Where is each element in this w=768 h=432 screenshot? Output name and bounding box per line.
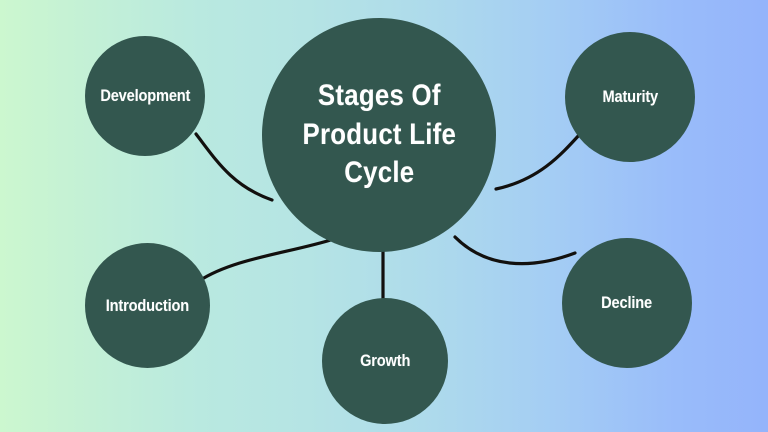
stage-node-growth-label: Growth	[360, 351, 410, 371]
stage-node-introduction[interactable]: Introduction	[85, 243, 210, 368]
stage-node-development-label: Development	[100, 86, 190, 106]
connector-center-maturity	[496, 134, 580, 189]
stage-node-introduction-label: Introduction	[106, 296, 189, 316]
connector-center-development	[196, 134, 272, 200]
stage-node-decline-label: Decline	[602, 293, 653, 313]
center-node-label: Stages Of Product Life Cycle	[302, 77, 456, 192]
connector-center-decline	[455, 237, 575, 264]
stage-node-maturity[interactable]: Maturity	[565, 32, 695, 162]
connector-center-introduction	[199, 239, 334, 281]
center-node[interactable]: Stages Of Product Life Cycle	[262, 18, 496, 252]
stage-node-decline[interactable]: Decline	[562, 238, 692, 368]
stage-node-growth[interactable]: Growth	[322, 298, 448, 424]
stage-node-maturity-label: Maturity	[602, 87, 657, 107]
stage-node-development[interactable]: Development	[85, 36, 205, 156]
diagram-canvas: Stages Of Product Life Cycle Development…	[0, 0, 768, 432]
